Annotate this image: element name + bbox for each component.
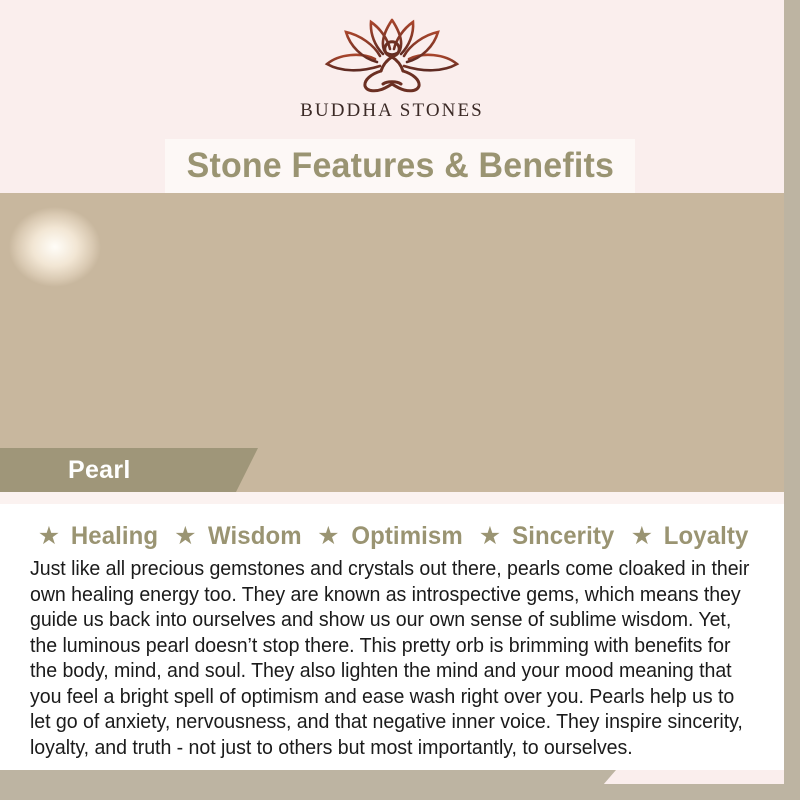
stone-name-bar: Pearl (0, 448, 258, 492)
benefit-item: ★ Sincerity (479, 522, 617, 551)
frame-bottom-bar (0, 770, 616, 800)
benefit-label: Wisdom (207, 522, 301, 551)
star-icon: ★ (38, 524, 60, 549)
benefit-item: ★ Healing (38, 522, 160, 551)
star-icon: ★ (174, 524, 196, 549)
lotus-meditation-icon (317, 14, 467, 98)
pearls-photo (0, 193, 784, 492)
star-icon: ★ (317, 524, 339, 549)
page-title: Stone Features & Benefits (186, 146, 613, 186)
panel-divider (0, 492, 784, 504)
benefit-label: Optimism (351, 522, 462, 551)
benefit-item: ★ Loyalty (631, 522, 751, 551)
frame-right-edge (784, 0, 800, 800)
benefit-item: ★ Wisdom (174, 522, 303, 551)
title-banner: Stone Features & Benefits (165, 139, 635, 193)
star-icon: ★ (479, 524, 501, 549)
benefit-label: Healing (71, 522, 158, 551)
brand-header: BUDDHA STONES (0, 0, 784, 140)
benefit-label: Sincerity (512, 522, 614, 551)
benefit-item: ★ Optimism (317, 522, 465, 551)
star-icon: ★ (631, 524, 653, 549)
content-panel: ★ Healing ★ Wisdom ★ Optimism ★ Sincerit… (0, 492, 784, 770)
brand-name: BUDDHA STONES (300, 100, 484, 122)
description-text: Just like all precious gemstones and cry… (30, 557, 757, 761)
stone-name: Pearl (68, 456, 131, 485)
benefits-list: ★ Healing ★ Wisdom ★ Optimism ★ Sincerit… (30, 517, 758, 555)
infographic-card: BUDDHA STONES Stone Features & Benefits … (0, 0, 800, 800)
hero-image-container: Pearl (0, 193, 784, 492)
page-body: BUDDHA STONES Stone Features & Benefits … (0, 0, 784, 784)
benefit-label: Loyalty (664, 522, 749, 551)
